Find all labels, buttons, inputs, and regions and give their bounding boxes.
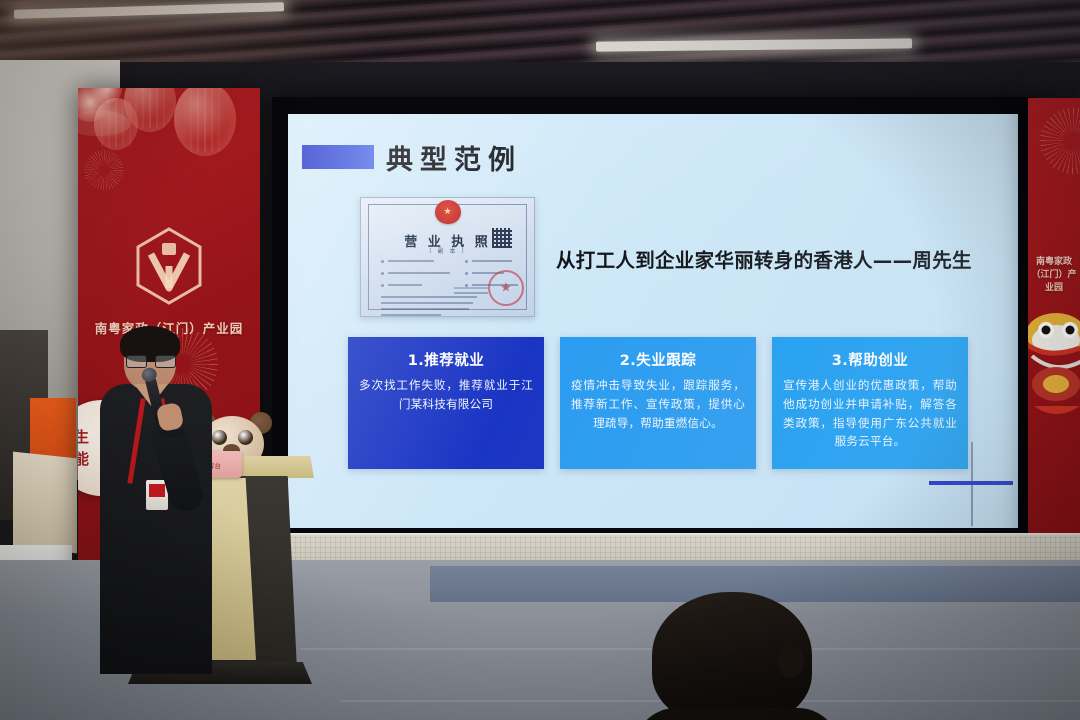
national-emblem-icon: [435, 200, 461, 224]
audience-member: [652, 592, 834, 720]
cloud-decoration: [78, 110, 130, 136]
ceiling-strip-light: [14, 2, 284, 19]
slide-title: 典型范例: [386, 138, 522, 177]
ceiling-strip-light: [596, 38, 912, 51]
case-step-cards: 1.推荐就业 多次找工作失败，推荐就业于江门某科技有限公司 2.失业跟踪 疫情冲…: [348, 337, 968, 469]
license-field-dot: [465, 284, 468, 287]
firework-icon: [84, 150, 124, 190]
glasses-icon: [126, 355, 174, 366]
license-field-line: [381, 296, 477, 298]
venue-badge-line1: 惠生: [78, 426, 90, 447]
license-field-line: [388, 284, 422, 286]
case-card-2: 2.失业跟踪 疫情冲击导致失业，跟踪服务，推荐新工作、宣传政策，提供心理疏导，帮…: [560, 337, 756, 469]
license-field-dot: [381, 260, 384, 263]
case-card-1-title: 1.推荐就业: [359, 349, 533, 370]
mascot-eye: [238, 430, 253, 445]
case-card-1-body: 多次找工作失败，推荐就业于江门某科技有限公司: [359, 376, 533, 414]
right-banner-title-text: 南粤家政（江门）产业园: [1028, 254, 1080, 293]
presentation-room-photo: 典型范例 营 业 执 照 （ 副 本 ） 从: [0, 0, 1080, 720]
presentation-slide: 典型范例 营 业 执 照 （ 副 本 ） 从: [288, 114, 1018, 528]
license-field-line: [388, 260, 434, 262]
license-field-line: [381, 308, 469, 310]
presenter: [94, 330, 214, 670]
qr-code-icon: [492, 228, 512, 248]
license-field-line: [381, 314, 441, 316]
audience-ear: [778, 644, 804, 678]
case-card-2-title: 2.失业跟踪: [571, 349, 745, 370]
lion-dance-icon: [1028, 310, 1080, 420]
cream-wall-panel: [13, 452, 77, 554]
audience-shoulders: [634, 708, 840, 720]
case-card-3-title: 3.帮助创业: [783, 349, 957, 370]
license-field-dot: [381, 272, 384, 275]
license-field-dot: [465, 272, 468, 275]
case-card-3: 3.帮助创业 宣传港人创业的优惠政策，帮助他成功创业并申请补贴，解答各类政策，指…: [772, 337, 968, 469]
park-logo-icon: [133, 226, 205, 306]
mascot-eye: [212, 430, 227, 445]
case-card-1: 1.推荐就业 多次找工作失败，推荐就业于江门某科技有限公司: [348, 337, 544, 469]
license-field-dot: [381, 284, 384, 287]
title-accent-bar: [302, 145, 374, 169]
license-signature-line: [454, 292, 488, 294]
case-card-2-body: 疫情冲击导致失业，跟踪服务，推荐新工作、宣传政策，提供心理疏导，帮助重燃信心。: [571, 376, 745, 432]
venue-badge-line2: 全能: [78, 448, 90, 469]
license-field-dot: [465, 260, 468, 263]
red-seal-icon: [488, 270, 524, 306]
business-license-image: 营 业 执 照 （ 副 本 ）: [360, 197, 535, 317]
license-field-line: [381, 302, 473, 304]
wristwatch-icon: [160, 430, 184, 438]
license-field-line: [388, 272, 450, 274]
decoration-cross-horizontal: [929, 481, 1013, 485]
license-field-line: [472, 260, 512, 262]
lantern-icon: [174, 88, 236, 156]
firework-icon: [1040, 108, 1080, 174]
slide-headline: 从打工人到企业家华丽转身的香港人——周先生: [556, 244, 972, 273]
case-card-3-body: 宣传港人创业的优惠政策，帮助他成功创业并申请补贴，解答各类政策，指导使用广东公共…: [783, 376, 957, 451]
